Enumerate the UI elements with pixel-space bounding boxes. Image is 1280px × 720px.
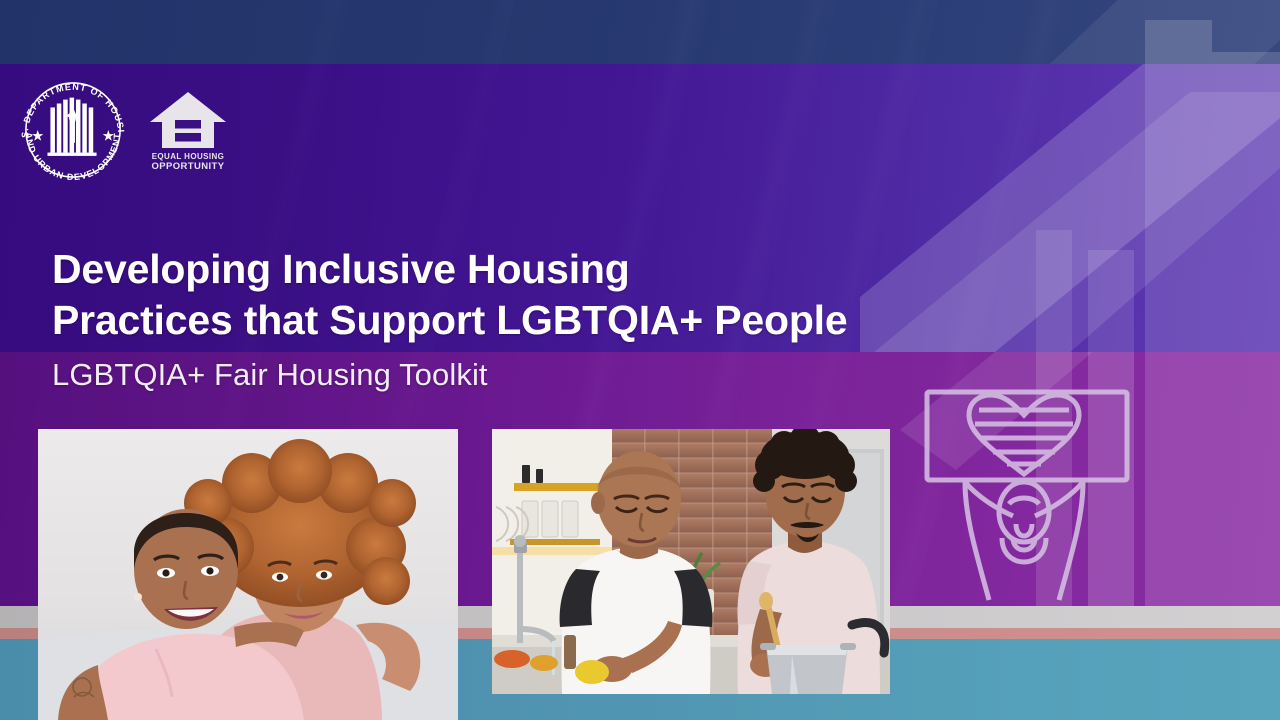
photo-two-men-cooking	[492, 429, 890, 694]
equal-housing-line1: EQUAL HOUSING	[152, 152, 225, 161]
slide-title-line-2: Practices that Support LGBTQIA+ People	[52, 295, 1122, 346]
logo-group: U.S. DEPARTMENT OF HOUSING AND URBAN DEV…	[14, 78, 228, 182]
slide-subtitle: LGBTQIA+ Fair Housing Toolkit	[52, 357, 488, 393]
photo-couple-embracing	[38, 429, 458, 720]
background-band-navy	[0, 0, 1280, 64]
presentation-slide: U.S. DEPARTMENT OF HOUSING AND URBAN DEV…	[0, 0, 1280, 720]
hud-seal-logo: U.S. DEPARTMENT OF HOUSING AND URBAN DEV…	[14, 78, 132, 182]
slide-title: Developing Inclusive Housing Practices t…	[52, 244, 1122, 347]
slide-title-line-1: Developing Inclusive Housing	[52, 246, 630, 292]
equal-housing-opportunity-logo: EQUAL HOUSING OPPORTUNITY	[148, 88, 228, 172]
equal-housing-line2: OPPORTUNITY	[151, 161, 224, 172]
